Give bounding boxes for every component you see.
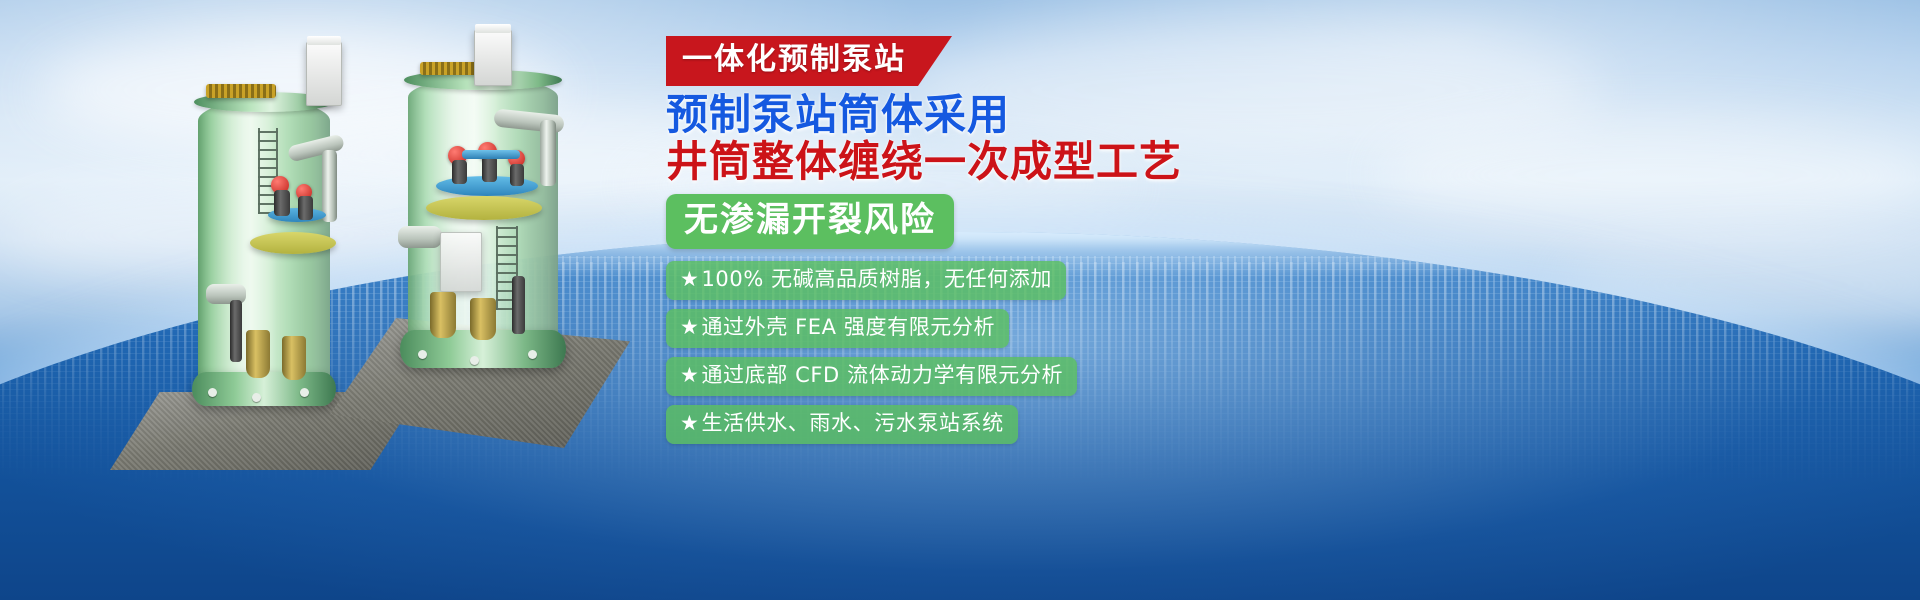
hatch-lid [475,24,511,33]
top-grating [420,62,482,75]
base-bolt [418,350,427,359]
submersible-pump [430,292,456,338]
product-category-tag: 一体化预制泵站 [666,36,952,86]
hatch-lid [307,36,341,45]
internal-platform [426,196,542,220]
promo-banner: 一体化预制泵站 预制泵站筒体采用 井筒整体缠绕一次成型工艺 无渗漏开裂风险 ★1… [0,0,1920,600]
feature-item-2: ★通过外壳 FEA 强度有限元分析 [666,309,1009,348]
base-bolt [208,388,217,397]
valve-actuator [510,164,524,186]
valve-actuator [482,156,497,182]
base-bolt [528,350,537,359]
star-icon: ★ [680,363,699,387]
base-bolt [300,388,309,397]
star-icon: ★ [680,411,699,435]
guide-rail [512,276,525,334]
feature-item-3: ★通过底部 CFD 流体动力学有限元分析 [666,357,1077,396]
riser-pipe [322,150,337,222]
highlight-badge: 无渗漏开裂风险 [666,194,954,249]
top-grating [206,84,276,98]
base-bolt [252,393,261,402]
base-bolt [470,356,479,365]
riser-pipe [540,120,556,186]
submersible-pump [470,298,496,340]
headline-secondary: 井筒整体缠绕一次成型工艺 [666,139,1286,184]
valve-actuator [298,196,313,220]
headline-primary: 预制泵站筒体采用 [666,92,1286,137]
star-icon: ★ [680,267,699,291]
internal-platform [250,232,336,254]
cloud [1380,120,1920,230]
inlet-pipe [398,226,442,248]
access-hatch [474,30,512,86]
feature-text: 生活供水、雨水、污水泵站系统 [701,411,1003,435]
access-hatch [306,42,342,106]
feature-text: 通过外壳 FEA 强度有限元分析 [701,315,995,339]
feature-text: 100% 无碱高品质树脂，无任何添加 [701,267,1052,291]
guide-rail [230,300,242,362]
feature-list: ★100% 无碱高品质树脂，无任何添加 ★通过外壳 FEA 强度有限元分析 ★通… [666,261,1286,453]
feature-item-1: ★100% 无碱高品质树脂，无任何添加 [666,261,1066,300]
feature-item-4: ★生活供水、雨水、污水泵站系统 [666,405,1018,444]
submersible-pump [282,336,306,380]
submersible-pump [246,330,270,378]
marketing-copy: 一体化预制泵站 预制泵站筒体采用 井筒整体缠绕一次成型工艺 无渗漏开裂风险 ★1… [666,36,1286,453]
valve-actuator [274,190,290,216]
valve-actuator [452,160,467,184]
internal-panel [440,232,482,292]
feature-text: 通过底部 CFD 流体动力学有限元分析 [701,363,1063,387]
star-icon: ★ [680,315,699,339]
manifold-pipe [462,150,520,159]
